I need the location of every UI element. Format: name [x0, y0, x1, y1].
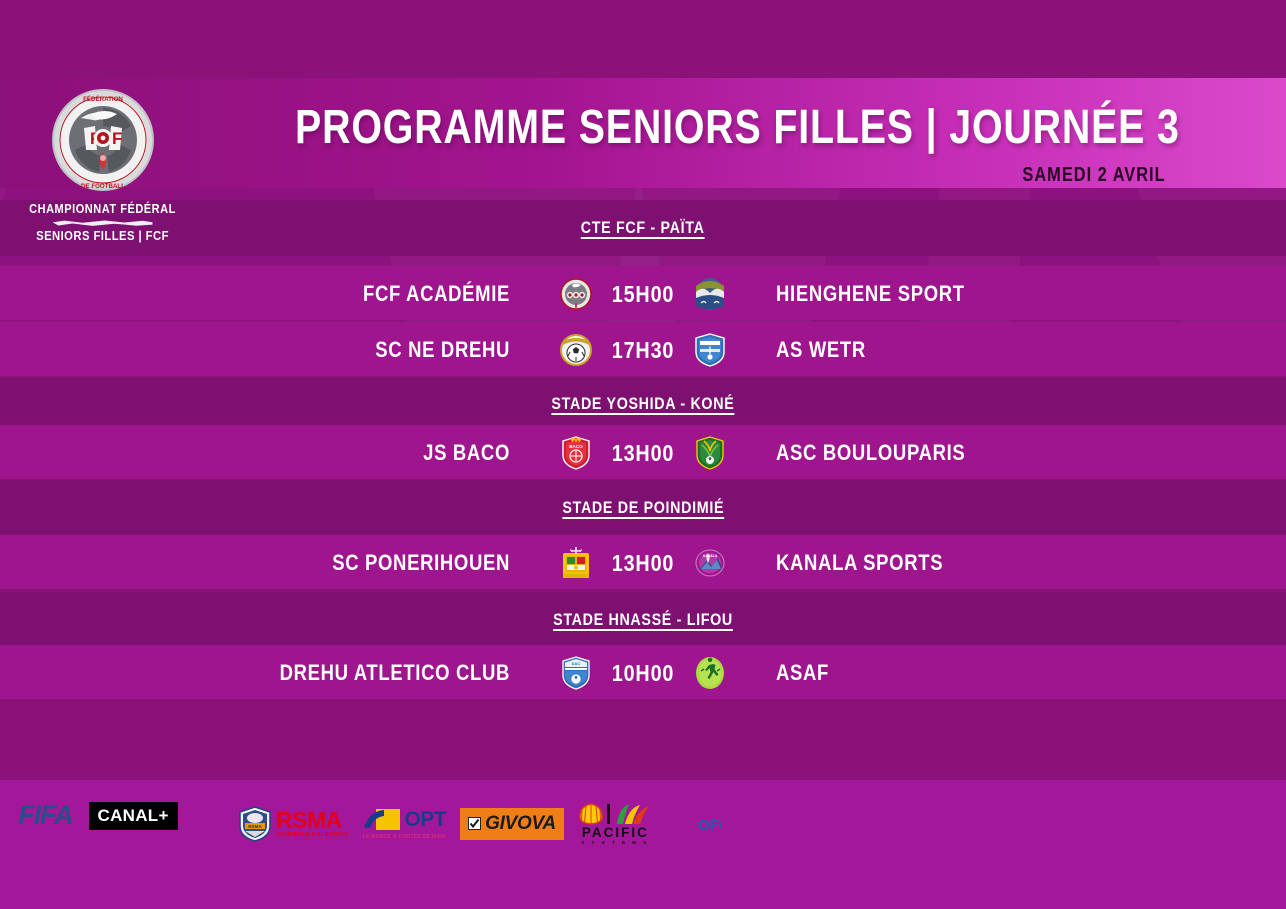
as-wetr-crest	[693, 332, 727, 368]
venue-header-3: STADE HNASSÉ - LIFOU	[0, 592, 1286, 648]
away-team-name: AS WETR	[776, 337, 1204, 363]
venue-name: STADE DE POINDIMIÉ	[562, 498, 724, 518]
match-center: 15H00	[510, 276, 776, 312]
match-center: BACO13H00	[510, 435, 776, 471]
title-separator: |	[926, 101, 938, 154]
rsma-subtitle: NOUVELLE-CALÉDONIE	[276, 833, 348, 839]
asaf-crest	[693, 655, 727, 691]
svg-text:DE FOOTBALL: DE FOOTBALL	[81, 183, 125, 190]
home-team-name: FCF ACADÉMIE	[82, 281, 510, 307]
fixture-poster: F F FÉDÉRATION DE FOOTBALL CHAMPIONNAT F…	[0, 0, 1286, 909]
opt-label: OPT	[404, 808, 446, 832]
svg-text:BACO: BACO	[569, 444, 583, 449]
match-center: 13H00KANALA	[510, 545, 776, 581]
match-row[interactable]: FCF ACADÉMIE15H00HIENGHENE SPORT	[0, 266, 1286, 322]
venue-name: CTE FCF - PAÏTA	[581, 218, 705, 238]
match-center: DAC10H00	[510, 655, 776, 691]
venue-name: STADE HNASSÉ - LIFOU	[553, 610, 733, 630]
svg-text:KANALA: KANALA	[703, 554, 718, 558]
kickoff-time: 15H00	[600, 281, 686, 308]
federation-logo-block: F F FÉDÉRATION DE FOOTBALL CHAMPIONNAT F…	[0, 78, 205, 266]
svg-text:RSMA: RSMA	[248, 824, 262, 829]
sc-ponerihouen-crest	[559, 545, 593, 581]
title-part1: PROGRAMME SENIORS FILLES	[295, 101, 914, 154]
asc-bouloupairs-crest	[693, 435, 727, 471]
givova-check-icon	[468, 817, 481, 830]
away-team-name: KANALA SPORTS	[776, 550, 1204, 576]
sponsor-canal-plus: CANAL+	[89, 802, 178, 830]
sponsor-fifa: FIFA	[18, 800, 73, 831]
brush-divider	[53, 220, 153, 226]
match-row[interactable]: DREHU ATLETICO CLUBDAC10H00ASAF	[0, 645, 1286, 701]
venue-header-2: STADE DE POINDIMIÉ	[0, 480, 1286, 536]
kickoff-time: 13H00	[600, 550, 686, 577]
match-row[interactable]: JS BACOBACO13H00ASC BOULOUPARIS	[0, 425, 1286, 481]
venue-name: STADE YOSHIDA - KONÉ	[552, 394, 735, 414]
rsma-label: RSMA	[276, 809, 348, 832]
match-row[interactable]: SC NE DREHU17H30AS WETR	[0, 322, 1286, 378]
shell-icon	[578, 802, 604, 826]
title-block: PROGRAMME SENIORS FILLES | JOURNÉE 3 SAM…	[205, 78, 1286, 188]
home-team-name: DREHU ATLETICO CLUB	[82, 660, 510, 686]
drehu-atletico-crest: DAC	[559, 655, 593, 691]
sc-ne-drehu-crest	[559, 332, 593, 368]
opt-mark-icon	[362, 807, 402, 833]
ofc-label: OFC	[698, 817, 721, 834]
pacific-sub: S Y S T E M S	[581, 840, 649, 845]
fcf-crest-icon: F F FÉDÉRATION DE FOOTBALL	[51, 88, 155, 192]
sponsor-pacific: PACIFIC S Y S T E M S	[578, 802, 653, 845]
footer: FIFA CANAL+ RSMA RSMA NOUVELLE-CALÉDONIE	[0, 780, 1286, 909]
kickoff-time: 10H00	[600, 660, 686, 687]
championship-line1: CHAMPIONNAT FÉDÉRAL	[12, 202, 192, 216]
sponsor-group-secondary: RSMA RSMA NOUVELLE-CALÉDONIE OPT	[238, 802, 721, 845]
page-title: PROGRAMME SENIORS FILLES | JOURNÉE 3	[295, 100, 1115, 155]
section-spacer	[0, 699, 1286, 780]
sponsor-rsma: RSMA RSMA NOUVELLE-CALÉDONIE	[238, 806, 348, 842]
away-team-name: ASC BOULOUPARIS	[776, 440, 1204, 466]
championship-line2: SENIORS FILLES | FCF	[10, 229, 195, 243]
opt-subtitle: LE MONDE À PORTÉE DE MAIN	[363, 834, 446, 840]
svg-text:FÉDÉRATION: FÉDÉRATION	[83, 95, 123, 103]
match-date: SAMEDI 2 AVRIL	[1023, 164, 1166, 187]
rsma-shield-icon: RSMA	[238, 806, 272, 842]
match-center: 17H30	[510, 332, 776, 368]
match-row[interactable]: SC PONERIHOUEN13H00KANALAKANALA SPORTS	[0, 535, 1286, 591]
title-part2: JOURNÉE 3	[949, 101, 1179, 154]
js-baco-crest: BACO	[559, 435, 593, 471]
pacific-label: PACIFIC	[582, 825, 649, 840]
givova-label: GIVOVA	[485, 813, 556, 835]
kanala-sports-crest: KANALA	[693, 545, 727, 581]
kickoff-time: 17H30	[600, 337, 686, 364]
sponsor-opt: OPT LE MONDE À PORTÉE DE MAIN	[362, 807, 446, 840]
home-team-name: JS BACO	[82, 440, 510, 466]
svg-text:DAC: DAC	[572, 661, 581, 666]
band-top	[0, 0, 1286, 78]
venue-header-1: STADE YOSHIDA - KONÉ	[0, 378, 1286, 430]
pacific-leaf-icon	[607, 802, 653, 826]
sponsor-group-primary: FIFA CANAL+	[18, 800, 178, 831]
kickoff-time: 13H00	[600, 440, 686, 467]
home-team-name: SC PONERIHOUEN	[82, 550, 510, 576]
home-team-name: SC NE DREHU	[82, 337, 510, 363]
sponsor-ofc: OFC	[667, 803, 721, 845]
sponsor-givova: GIVOVA	[460, 808, 564, 840]
svg-text:F: F	[112, 129, 122, 148]
away-team-name: HIENGHENE SPORT	[776, 281, 1204, 307]
away-team-name: ASAF	[776, 660, 1204, 686]
hienghene-sport-crest	[693, 276, 727, 312]
ofc-icon: OFC	[667, 803, 721, 845]
fcf-academie-crest	[559, 276, 593, 312]
